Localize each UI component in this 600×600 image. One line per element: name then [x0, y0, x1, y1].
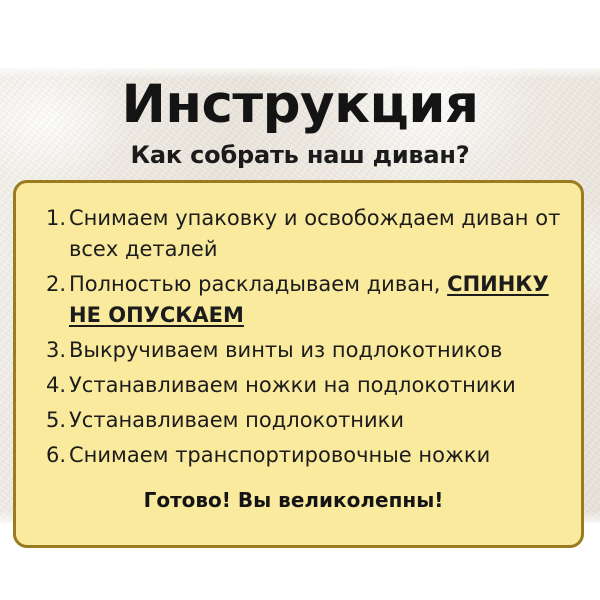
list-item: 6. Снимаем транспортировочные ножки — [16, 440, 569, 471]
steps-card: 1. Снимаем упаковку и освобождаем диван … — [13, 180, 584, 548]
step-text-plain: Устанавливаем подлокотники — [69, 408, 404, 432]
list-item: 4. Устанавливаем ножки на подлокотники — [16, 370, 569, 401]
step-text: Полностью раскладываем диван, СПИНКУ НЕ … — [66, 269, 569, 331]
steps-list: 1. Снимаем упаковку и освобождаем диван … — [16, 183, 581, 471]
step-text: Устанавливаем подлокотники — [66, 405, 569, 436]
heading-block: Инструкция Как собрать наш диван? — [0, 76, 600, 170]
step-text: Устанавливаем ножки на подлокотники — [66, 370, 569, 401]
step-number: 1. — [16, 203, 66, 234]
step-number: 2. — [16, 269, 66, 300]
list-item: 5. Устанавливаем подлокотники — [16, 405, 569, 436]
step-number: 4. — [16, 370, 66, 401]
step-text: Снимаем упаковку и освобождаем диван от … — [66, 203, 569, 265]
step-number: 3. — [16, 335, 66, 366]
page-subtitle: Как собрать наш диван? — [0, 140, 600, 170]
page-title: Инструкция — [0, 76, 600, 134]
step-text-plain: Устанавливаем ножки на подлокотники — [69, 373, 516, 397]
step-text: Выкручиваем винты из подлокотников — [66, 335, 569, 366]
list-item: 3. Выкручиваем винты из подлокотников — [16, 335, 569, 366]
instruction-poster: Инструкция Как собрать наш диван? 1. Сни… — [0, 0, 600, 600]
step-text-plain: Снимаем упаковку и освобождаем диван от … — [69, 206, 560, 261]
step-text: Снимаем транспортировочные ножки — [66, 440, 569, 471]
list-item: 2. Полностью раскладываем диван, СПИНКУ … — [16, 269, 569, 331]
list-item: 1. Снимаем упаковку и освобождаем диван … — [16, 203, 569, 265]
step-text-plain: Выкручиваем винты из подлокотников — [69, 338, 502, 362]
step-number: 6. — [16, 440, 66, 471]
step-text-plain: Снимаем транспортировочные ножки — [69, 443, 490, 467]
finish-message: Готово! Вы великолепны! — [16, 487, 581, 513]
step-number: 5. — [16, 405, 66, 436]
step-text-plain: Полностью раскладываем диван, — [69, 272, 447, 296]
